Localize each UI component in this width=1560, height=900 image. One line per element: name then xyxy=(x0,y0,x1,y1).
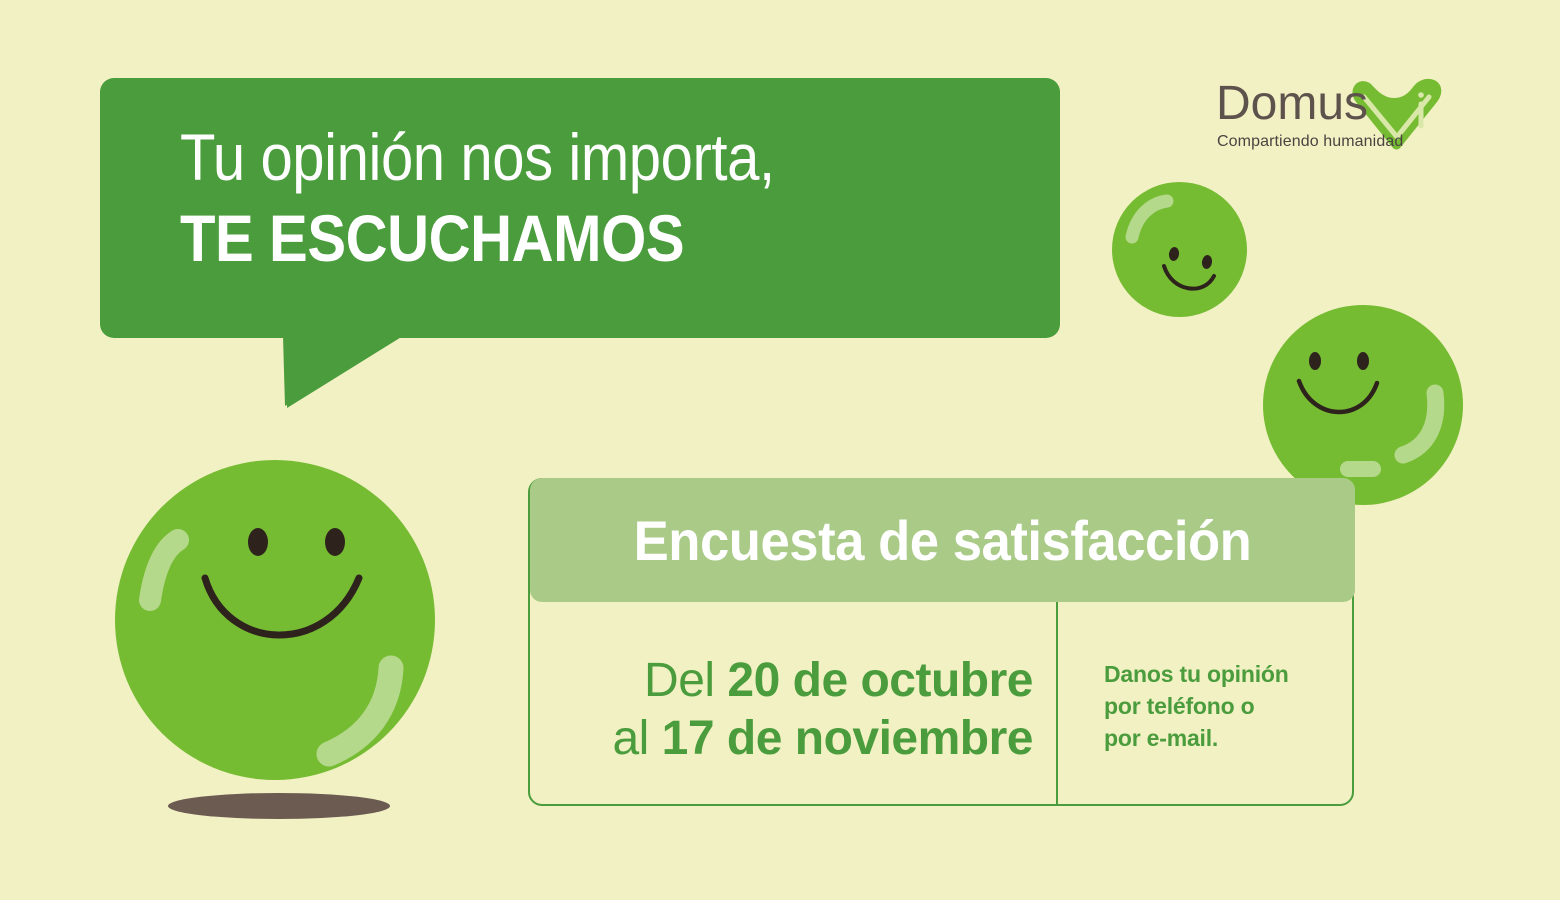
poster-canvas: Tu opinión nos importa, TE ESCUCHAMOS Do… xyxy=(0,0,1560,900)
survey-contact: Danos tu opinión por teléfono o por e-ma… xyxy=(1104,658,1344,754)
logo-tagline: Compartiendo humanidad xyxy=(1217,133,1403,151)
logo-wordmark: Domus xyxy=(1216,78,1368,130)
contact-line-1: Danos tu opinión xyxy=(1104,658,1344,690)
contact-line-2: por teléfono o xyxy=(1104,690,1344,722)
speech-bubble xyxy=(100,78,1060,338)
dates-value-2: 17 de noviembre xyxy=(662,712,1033,765)
smiley-large xyxy=(115,460,435,780)
contact-line-3: por e-mail. xyxy=(1104,722,1344,754)
speech-bubble-tail xyxy=(283,336,403,408)
survey-dates: Del 20 de octubre al 17 de noviembre xyxy=(563,652,1033,768)
survey-banner xyxy=(530,478,1355,602)
smiley-medium xyxy=(1263,305,1463,505)
smiley-small xyxy=(1112,182,1247,317)
dates-prefix-1: Del xyxy=(644,654,727,707)
domusvi-logo: Domus Compartiendo humanidad xyxy=(1216,78,1466,160)
smiley-large-shadow xyxy=(168,793,390,819)
dates-prefix-2: al xyxy=(612,712,661,765)
survey-dates-line-1: Del 20 de octubre xyxy=(563,652,1033,710)
card-column-divider xyxy=(1056,600,1058,804)
dates-value-1: 20 de octubre xyxy=(727,654,1033,707)
survey-dates-line-2: al 17 de noviembre xyxy=(563,710,1033,768)
